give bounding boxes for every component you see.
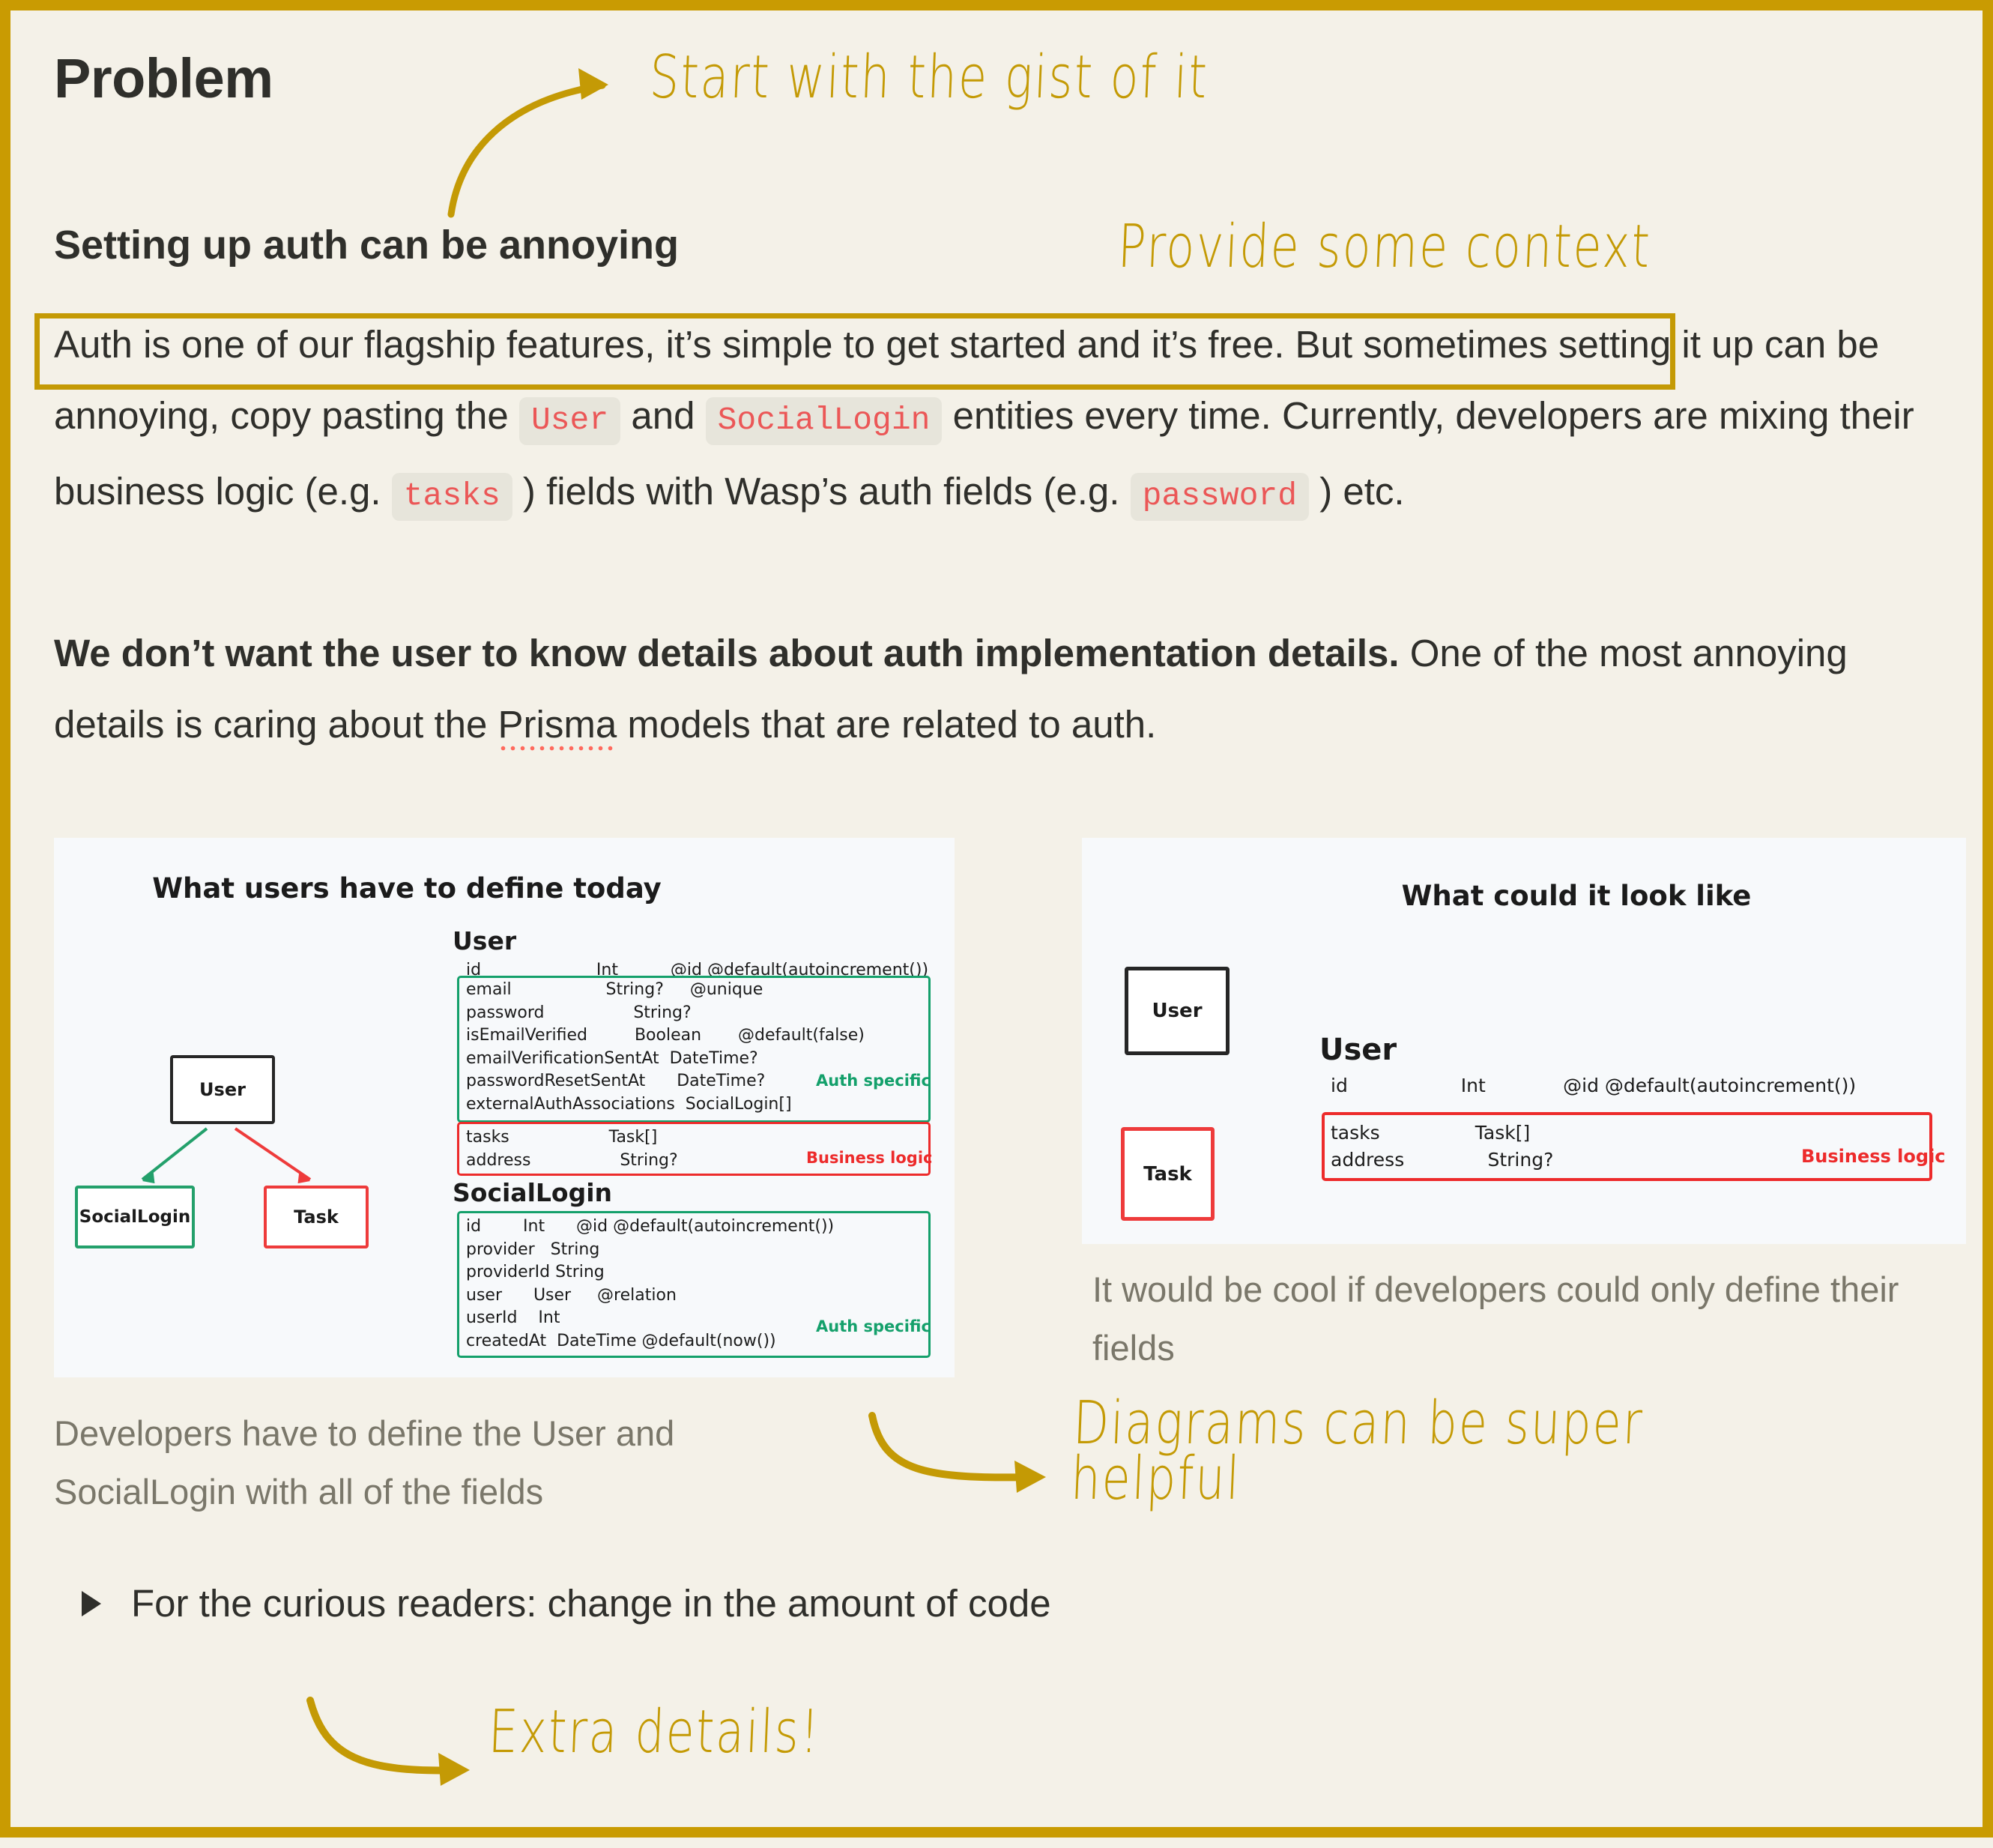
para2-bold: We don’t want the user to know details a…: [54, 632, 1400, 674]
slide-page: Problem Setting up auth can be annoying …: [0, 0, 1993, 1838]
user-right-plain-fields: id Int @id @default(autoincrement()): [1331, 1075, 1856, 1098]
model-name-user-right: User: [1319, 1033, 1397, 1067]
field-row: email String? @unique: [466, 980, 763, 999]
field-row: address String?: [1331, 1149, 1553, 1171]
code-token-sociallogin: SocialLogin: [706, 397, 943, 445]
annotation-extra-details: Extra details!: [487, 1697, 822, 1766]
spellcheck-word-prisma: Prisma: [498, 703, 617, 753]
field-row: user User @relation: [466, 1286, 677, 1305]
business-logic-label-user-right: Business logic: [1801, 1146, 1946, 1167]
model-name-user-left: User: [453, 926, 516, 955]
er-box-task-left: Task: [264, 1186, 369, 1248]
annotation-line-2: helpful: [1070, 1443, 1242, 1513]
model-name-sociallogin-left: SocialLogin: [453, 1178, 612, 1207]
er-box-sociallogin-left: SocialLogin: [75, 1186, 195, 1248]
code-token-user: User: [519, 397, 620, 445]
panel-right-title: What could it look like: [1134, 880, 1993, 912]
paragraph-goal: We don’t want the user to know details a…: [54, 617, 1920, 760]
field-row: providerId String: [466, 1263, 605, 1281]
para1-t5: ) etc.: [1309, 470, 1405, 513]
field-row: address String?: [466, 1151, 678, 1170]
caption-left: Developers have to define the User and S…: [54, 1404, 848, 1521]
para1-t2: and: [620, 394, 705, 437]
er-box-user-right: User: [1125, 967, 1230, 1055]
field-row: tasks Task[]: [1331, 1122, 1530, 1144]
para1-t4: ) fields with Wasp’s auth fields (e.g.: [512, 470, 1131, 513]
field-row: createdAt DateTime @default(now()): [466, 1332, 776, 1350]
annotation-start-with-gist: Start with the gist of it: [648, 42, 1209, 112]
paragraph-intro: Auth is one of our flagship features, it…: [54, 309, 1957, 531]
page-title: Problem: [54, 46, 273, 110]
field-row: password String?: [466, 1003, 692, 1022]
field-row: id Int @id @default(autoincrement()): [466, 1217, 834, 1236]
sociallogin-left-auth-fields: id Int @id @default(autoincrement())prov…: [466, 1216, 834, 1353]
code-token-tasks: tasks: [392, 473, 512, 521]
annotation-diagrams-helpful: Diagrams can be superhelpful: [1070, 1395, 1645, 1506]
field-row: passwordResetSentAt DateTime?: [466, 1072, 765, 1090]
auth-specific-label-sociallogin-left: Auth specific: [816, 1317, 931, 1335]
field-row: emailVerificationSentAt DateTime?: [466, 1049, 758, 1068]
expandable-bullet[interactable]: For the curious readers: change in the a…: [82, 1581, 1051, 1625]
chevron-right-icon[interactable]: [82, 1591, 101, 1616]
business-logic-label-user-left: Business logic: [806, 1149, 932, 1167]
auth-specific-label-user-left: Auth specific: [816, 1072, 931, 1090]
field-row: id Int @id @default(autoincrement()): [1331, 1075, 1856, 1096]
user-left-business-fields: tasks Task[]address String?: [466, 1126, 678, 1172]
field-row: tasks Task[]: [466, 1128, 657, 1147]
slide-content: Problem Setting up auth can be annoying …: [10, 10, 1983, 1827]
annotation-provide-context: Provide some context: [1116, 211, 1652, 281]
field-row: userId Int: [466, 1308, 560, 1327]
er-box-user-left: User: [170, 1055, 275, 1124]
user-right-business-fields: tasks Task[]address String?: [1331, 1120, 1553, 1174]
bullet-label[interactable]: For the curious readers: change in the a…: [131, 1581, 1051, 1625]
field-row: externalAuthAssociations SocialLogin[]: [466, 1095, 792, 1114]
panel-left-title: What users have to define today: [0, 872, 857, 905]
caption-right: It would be cool if developers could onl…: [1092, 1260, 1924, 1377]
code-token-password: password: [1131, 473, 1309, 521]
user-left-auth-fields: email String? @uniquepassword String?isE…: [466, 979, 865, 1116]
highlighted-sentence: Auth is one of our flagship features, it…: [54, 323, 1284, 366]
er-box-task-right: Task: [1121, 1127, 1215, 1221]
field-row: provider String: [466, 1240, 599, 1259]
field-row: isEmailVerified Boolean @default(false): [466, 1026, 865, 1045]
section-subtitle: Setting up auth can be annoying: [54, 222, 679, 268]
para2-t2: models that are related to auth.: [617, 703, 1156, 746]
